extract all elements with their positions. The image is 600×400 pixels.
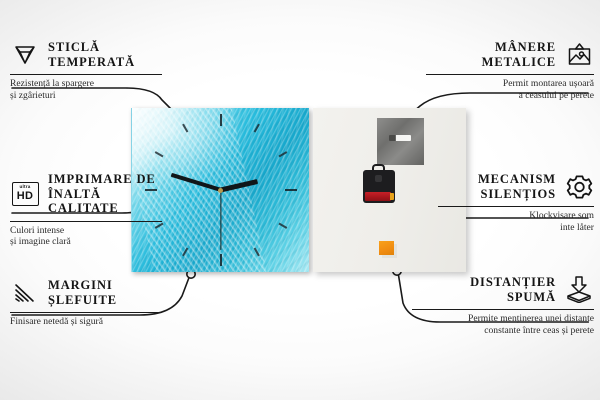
battery — [365, 192, 391, 201]
foam-spacer-pad — [379, 241, 394, 255]
callout-title: STICLĂ TEMPERATĂ — [48, 40, 135, 69]
callout-rule — [10, 312, 162, 313]
clock-second-hand — [220, 190, 221, 250]
clock-tick — [220, 114, 222, 190]
callout-silent-mechanism: MECANISM SILENȚIOS Klockvisare som inte … — [438, 172, 594, 233]
battery-cap — [390, 193, 394, 200]
hanger-slot — [389, 135, 411, 141]
callout-polished-edges: MARGINI ȘLEFUITE Finisare netedă și sigu… — [10, 278, 162, 328]
clock-center-pin — [218, 188, 223, 193]
callout-rule — [426, 74, 594, 75]
picture-hanger-icon — [564, 42, 594, 68]
callout-rule — [438, 206, 594, 207]
product-images — [131, 108, 466, 272]
callout-title: MARGINI ȘLEFUITE — [48, 278, 117, 307]
callout-subtitle: Permite menținerea unei distanțe constan… — [412, 313, 594, 336]
ultra-hd-icon: ultra HD — [10, 181, 40, 207]
diamond-icon — [10, 42, 40, 68]
callout-subtitle: Finisare netedă și sigură — [10, 316, 162, 328]
polished-edge-icon — [10, 280, 40, 306]
metal-hanger-plate — [377, 118, 424, 165]
gear-icon — [564, 174, 594, 200]
callout-subtitle: Permit montarea ușoară a ceasului pe per… — [426, 78, 594, 101]
quartz-mechanism — [363, 170, 395, 203]
infographic-stage: STICLĂ TEMPERATĂ Rezistență la spargere … — [0, 0, 600, 400]
mechanism-loop — [372, 164, 385, 172]
callout-foam-spacer: DISTANȚIER SPUMĂ Permite menținerea unei… — [412, 275, 594, 336]
callout-title: MÂNERE METALICE — [482, 40, 556, 69]
callout-tempered-glass: STICLĂ TEMPERATĂ Rezistență la spargere … — [10, 40, 162, 101]
callout-title: DISTANȚIER SPUMĂ — [470, 275, 556, 304]
callout-subtitle: Klockvisare som inte låter — [438, 210, 594, 233]
callout-title: MECANISM SILENȚIOS — [478, 172, 556, 201]
foam-spacer-icon — [564, 277, 594, 303]
callout-hd-print: ultra HD IMPRIMARE DE ÎNALTĂ CALITATE Cu… — [10, 172, 162, 248]
callout-subtitle: Culori intense și imagine clară — [10, 225, 162, 248]
mechanism-shaft — [375, 175, 382, 182]
ultra-hd-bottom-text: HD — [17, 191, 34, 202]
callout-rule — [10, 74, 162, 75]
callout-rule — [10, 221, 162, 222]
callout-metal-handles: MÂNERE METALICE Permit montarea ușoară a… — [426, 40, 594, 101]
callout-subtitle: Rezistență la spargere și zgârieturi — [10, 78, 162, 101]
callout-title: IMPRIMARE DE ÎNALTĂ CALITATE — [48, 172, 162, 216]
callout-rule — [412, 309, 594, 310]
